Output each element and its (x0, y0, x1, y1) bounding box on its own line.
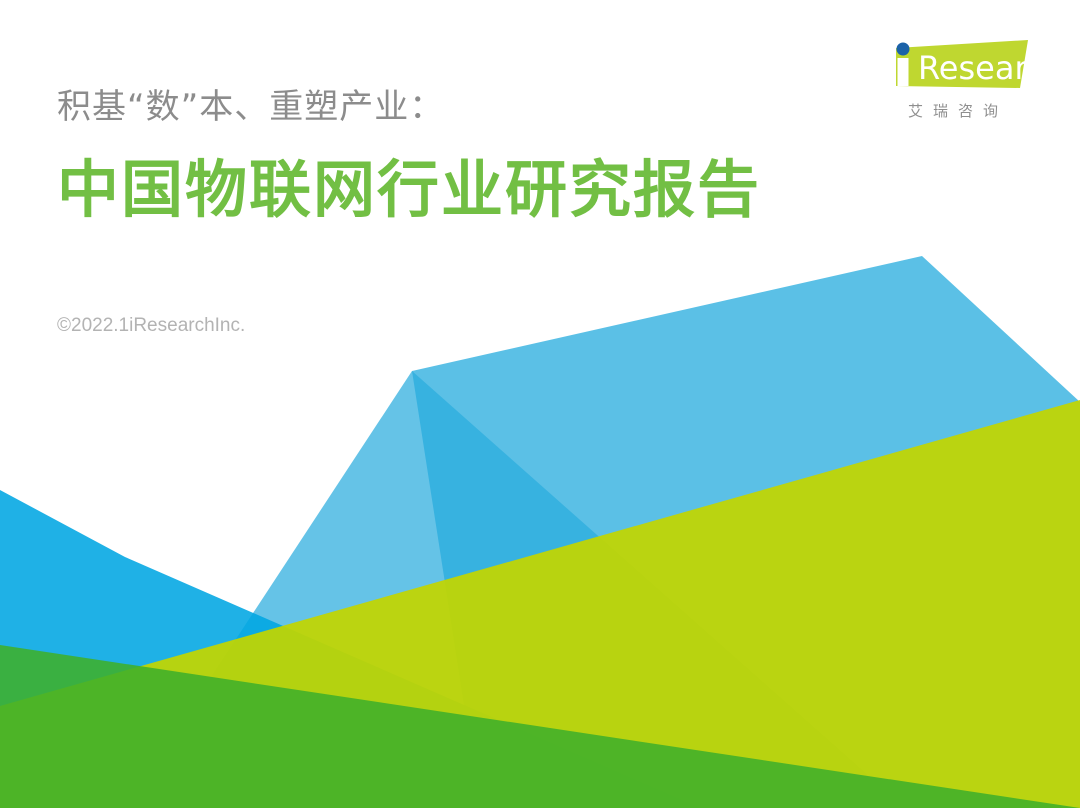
copyright-notice: ©2022.1iResearchInc. (57, 315, 245, 337)
iresearch-logo: Research 艾瑞咨询 (878, 36, 1028, 132)
title-block: 积基“数”本、重塑产业： 中国物联网行业研究报告 (57, 86, 761, 227)
logo-dot-icon (897, 43, 910, 56)
logo-research-text: Research (918, 49, 1028, 87)
logo-chinese-name: 艾瑞咨询 (878, 100, 1028, 121)
logo-i-stem-shape (898, 58, 909, 86)
report-main-title: 中国物联网行业研究报告 (57, 153, 761, 227)
iresearch-wordmark: Research (878, 36, 1028, 94)
report-subtitle: 积基“数”本、重塑产业： (57, 86, 761, 129)
report-cover-page: Research 艾瑞咨询 积基“数”本、重塑产业： 中国物联网行业研究报告 ©… (0, 0, 1080, 808)
